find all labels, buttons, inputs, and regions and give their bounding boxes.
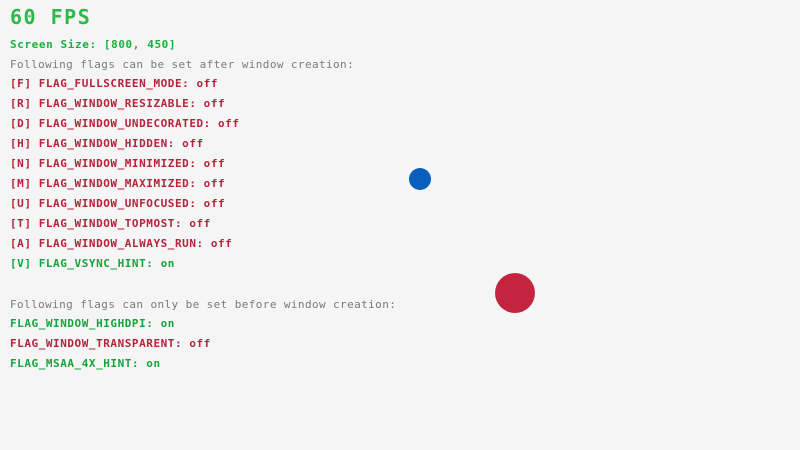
flag-row-flag-window-hidden[interactable]: [H] FLAG_WINDOW_HIDDEN: off [10,138,204,149]
flag-row-flag-window-unfocused[interactable]: [U] FLAG_WINDOW_UNFOCUSED: off [10,198,225,209]
flag-row-flag-window-transparent[interactable]: FLAG_WINDOW_TRANSPARENT: off [10,338,211,349]
flag-row-flag-window-highdpi[interactable]: FLAG_WINDOW_HIGHDPI: on [10,318,175,329]
screen-size-label: Screen Size: [800, 450] [10,39,176,50]
flag-row-flag-window-minimized[interactable]: [N] FLAG_WINDOW_MINIMIZED: off [10,158,225,169]
flag-row-flag-window-undecorated[interactable]: [D] FLAG_WINDOW_UNDECORATED: off [10,118,240,129]
fps-counter: 60 FPS [10,7,91,27]
section-header-before-creation: Following flags can only be set before w… [10,299,396,310]
flag-row-flag-window-maximized[interactable]: [M] FLAG_WINDOW_MAXIMIZED: off [10,178,225,189]
flag-row-flag-fullscreen-mode[interactable]: [F] FLAG_FULLSCREEN_MODE: off [10,78,218,89]
flag-row-flag-msaa-4x-hint[interactable]: FLAG_MSAA_4X_HINT: on [10,358,161,369]
red-circle-shape [495,273,535,313]
blue-circle-shape [409,168,431,190]
flag-row-flag-vsync-hint[interactable]: [V] FLAG_VSYNC_HINT: on [10,258,175,269]
flag-row-flag-window-always-run[interactable]: [A] FLAG_WINDOW_ALWAYS_RUN: off [10,238,232,249]
raylib-window-canvas[interactable]: 60 FPS Screen Size: [800, 450] Following… [0,0,800,450]
flag-row-flag-window-topmost[interactable]: [T] FLAG_WINDOW_TOPMOST: off [10,218,211,229]
flag-row-flag-window-resizable[interactable]: [R] FLAG_WINDOW_RESIZABLE: off [10,98,225,109]
section-header-after-creation: Following flags can be set after window … [10,59,354,70]
